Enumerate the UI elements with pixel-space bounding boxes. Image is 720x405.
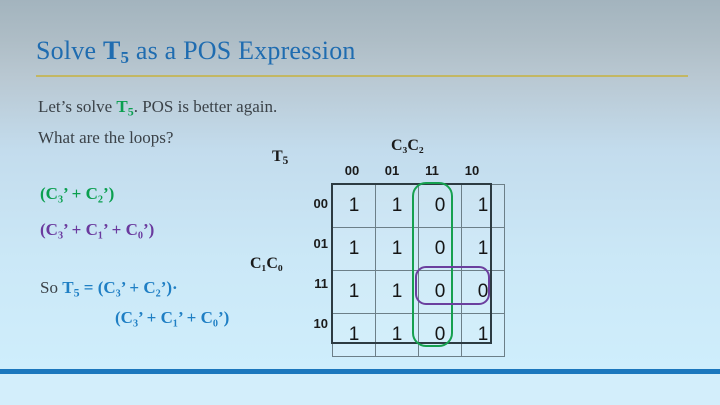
- kmap-function-label-text: T: [272, 148, 283, 165]
- kmap-cell-r2c2[interactable]: 0: [419, 271, 462, 314]
- result-expression-line-1: So T5 = (C₃’ + C₂’)·: [40, 278, 178, 298]
- kmap-col-header-2: 11: [412, 163, 452, 178]
- kmap-col-header-3: 10: [452, 163, 492, 178]
- kmap-function-label-subscript: 5: [283, 155, 289, 167]
- slide-canvas: Solve T5 as a POS Expression Let’s solve…: [0, 0, 720, 405]
- title-divider: [36, 75, 688, 77]
- kmap-row-variable-label: C₁C₀: [250, 255, 283, 273]
- intro-line-1-pre: Let’s solve: [38, 97, 116, 116]
- kmap-cell-r3c1[interactable]: 1: [376, 314, 419, 357]
- table-row: 1 1 0 0: [333, 271, 505, 314]
- kmap-cell-r3c2[interactable]: 0: [419, 314, 462, 357]
- kmap-cell-r0c1[interactable]: 1: [376, 185, 419, 228]
- kmap-function-label: T5: [272, 148, 288, 166]
- kmap-row-header-3: 10: [300, 304, 328, 344]
- kmap-row-header-1: 01: [300, 224, 328, 264]
- kmap-col-header-1: 01: [372, 163, 412, 178]
- kmap-col-header-0: 00: [332, 163, 372, 178]
- kmap-cell-r1c1[interactable]: 1: [376, 228, 419, 271]
- intro-line-1: Let’s solve T5. POS is better again.: [38, 97, 277, 117]
- title-symbol-subscript: 5: [120, 48, 129, 67]
- karnaugh-map-grid: 1 1 0 1 1 1 0 1 1 1 0 0 1 1 0 1: [332, 184, 493, 345]
- kmap-cell-r2c1[interactable]: 1: [376, 271, 419, 314]
- table-row: 1 1 0 1: [333, 314, 505, 357]
- kmap-cell-r0c2[interactable]: 0: [419, 185, 462, 228]
- title-post: as a POS Expression: [129, 36, 355, 65]
- page-title: Solve T5 as a POS Expression: [36, 36, 356, 68]
- purple-loop-expression: (C₃’ + C₁’ + C₀’): [40, 220, 154, 240]
- kmap-cell-r2c3[interactable]: 0: [462, 271, 505, 314]
- kmap-table: 1 1 0 1 1 1 0 1 1 1 0 0 1 1 0 1: [332, 184, 505, 357]
- kmap-cell-r1c2[interactable]: 0: [419, 228, 462, 271]
- kmap-cell-r3c3[interactable]: 1: [462, 314, 505, 357]
- kmap-cell-r0c3[interactable]: 1: [462, 185, 505, 228]
- result-first-term: (C₃’ + C₂’)·: [98, 278, 178, 297]
- result-equals: =: [80, 278, 98, 297]
- title-pre: Solve: [36, 36, 103, 65]
- kmap-row-header-0: 00: [300, 184, 328, 224]
- kmap-cell-r2c0[interactable]: 1: [333, 271, 376, 314]
- intro-line-2: What are the loops?: [38, 128, 173, 148]
- kmap-row-header-2: 11: [300, 264, 328, 304]
- kmap-column-variable-label: C₃C₂: [391, 137, 424, 155]
- kmap-cell-r1c0[interactable]: 1: [333, 228, 376, 271]
- intro-term-t5: T: [116, 97, 127, 116]
- kmap-cell-r3c0[interactable]: 1: [333, 314, 376, 357]
- footer: ECE 120: Introduction to Computing © 201…: [0, 374, 720, 405]
- kmap-cell-r0c0[interactable]: 1: [333, 185, 376, 228]
- table-row: 1 1 0 1: [333, 228, 505, 271]
- result-prefix: So: [40, 278, 62, 297]
- green-loop-expression: (C₃’ + C₂’): [40, 184, 114, 204]
- result-expression-line-2: (C₃’ + C₁’ + C₀’): [115, 308, 229, 328]
- title-symbol: T: [103, 36, 121, 65]
- table-row: 1 1 0 1: [333, 185, 505, 228]
- intro-line-1-post: . POS is better again.: [134, 97, 278, 116]
- result-lhs: T: [62, 278, 73, 297]
- kmap-cell-r1c3[interactable]: 1: [462, 228, 505, 271]
